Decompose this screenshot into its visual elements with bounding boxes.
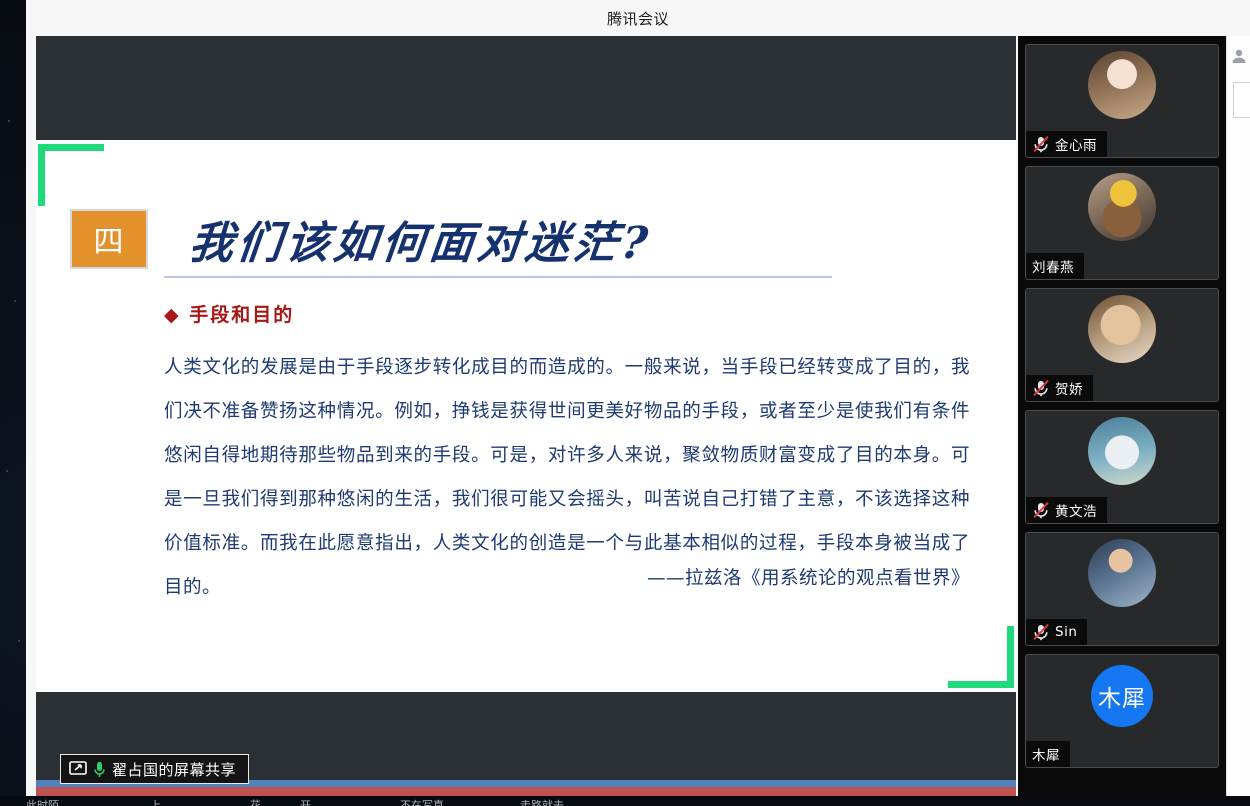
avatar [1088,51,1156,119]
avatar-image [1088,539,1156,607]
participant-tile[interactable]: 贺娇 [1025,288,1219,402]
rail-panel-placeholder[interactable] [1233,82,1250,118]
participant-name: 刘春燕 [1032,256,1074,276]
slide-title: 我们该如何面对迷茫? [187,207,656,271]
avatar-image [1088,295,1156,363]
shared-screen-stage[interactable]: 四 我们该如何面对迷茫? ◆ 手段和目的 人类文化的发展是由于手段逐步转化成目的… [36,36,1016,806]
mic-muted-icon [1032,135,1050,153]
corner-marker-top-left [38,144,104,206]
avatar [1088,295,1156,363]
title-divider [164,276,832,278]
slide-subheading: ◆ 手段和目的 [164,300,294,327]
avatar [1088,417,1156,485]
participant-name: 金心雨 [1055,134,1097,154]
avatar [1088,173,1156,241]
cutoff-label: 上 [150,797,161,806]
person-icon[interactable] [1231,48,1247,64]
participant-name: Sin [1055,624,1077,640]
screen-share-label: 翟占国的屏幕共享 [112,759,236,780]
participant-name-badge: Sin [1026,619,1087,645]
mic-muted-icon [1032,379,1050,397]
cutoff-label: 花 [250,797,261,806]
participant-name-badge: 黄文浩 [1026,497,1107,523]
avatar: 木犀 [1091,665,1153,727]
mic-muted-icon [1032,501,1050,519]
cutoff-label: 走路就去 [520,797,564,806]
participant-name-badge: 木犀 [1026,741,1070,767]
mic-muted-icon [1032,623,1050,641]
avatar-image [1088,173,1156,241]
avatar [1088,539,1156,607]
participant-name-badge: 贺娇 [1026,375,1093,401]
participant-name: 贺娇 [1055,378,1083,398]
screen-share-icon [69,761,87,777]
participant-tile[interactable]: 刘春燕 [1025,166,1219,280]
mic-on-icon [93,761,106,778]
app-title: 腾讯会议 [607,8,669,29]
screen-share-banner[interactable]: 翟占国的屏幕共享 [60,754,249,784]
section-number-badge: 四 [70,209,148,269]
slide-title-row: 四 我们该如何面对迷茫? [70,200,964,278]
participant-name-badge: 刘春燕 [1026,253,1084,279]
window-titlebar[interactable]: 腾讯会议 [26,0,1250,36]
participant-tile[interactable]: Sin [1025,532,1219,646]
slide-attribution: ——拉兹洛《用系统论的观点看世界》 [164,564,970,590]
cutoff-label: 开 [300,797,311,806]
screen: 腾讯会议 四 我们该如何面对迷茫? ◆ 手段和目的 人类文化的发展是由于手段逐步… [0,0,1250,806]
participant-filmstrip[interactable]: 金心雨刘春燕贺娇黄文浩Sin木犀木犀 [1018,36,1226,806]
tencent-meeting-window: 腾讯会议 四 我们该如何面对迷茫? ◆ 手段和目的 人类文化的发展是由于手段逐步… [26,0,1250,806]
avatar-image [1088,417,1156,485]
participant-name: 黄文浩 [1055,500,1097,520]
participant-name: 木犀 [1032,744,1060,764]
participant-tile[interactable]: 金心雨 [1025,44,1219,158]
participant-tile[interactable]: 黄文浩 [1025,410,1219,524]
bottom-cutoff-strip: 此时陌上花开不在写真走路就去 [0,796,1250,806]
presentation-slide: 四 我们该如何面对迷茫? ◆ 手段和目的 人类文化的发展是由于手段逐步转化成目的… [36,140,1016,692]
avatar-image [1088,51,1156,119]
right-side-rail[interactable] [1226,36,1250,806]
cutoff-label: 不在写真 [400,797,444,806]
cutoff-label: 此时陌 [26,797,59,806]
corner-marker-bottom-right [948,626,1014,688]
participant-tile[interactable]: 木犀木犀 [1025,654,1219,768]
participant-name-badge: 金心雨 [1026,131,1107,157]
